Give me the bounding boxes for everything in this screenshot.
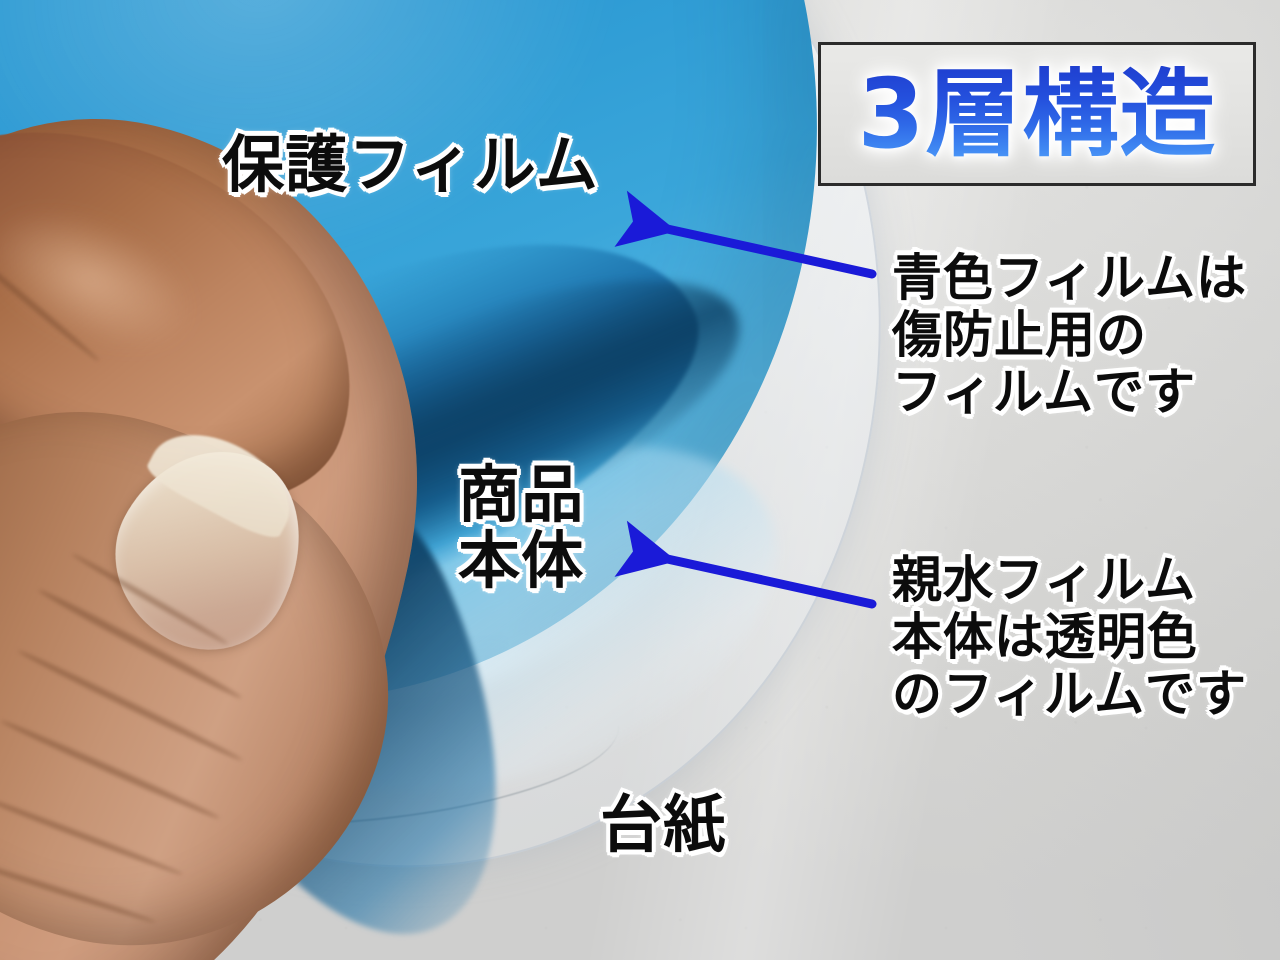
arrow-to-product-body — [640, 553, 872, 604]
label-backing-sheet: 台紙 — [600, 792, 726, 858]
title-badge: 3層構造 — [818, 42, 1256, 186]
product-photo-annotated: 保護フィルム 商品 本体 台紙 青色フィルムは 傷防止用の フィルムです 親水フ… — [0, 0, 1280, 960]
arrow-to-protective-film — [640, 223, 872, 274]
title-badge-text: 3層構造 — [858, 66, 1217, 162]
label-product-body: 商品 本体 — [458, 462, 584, 593]
note-clear-film: 親水フィルム 本体は透明色 のフィルムです — [892, 552, 1247, 723]
note-blue-film: 青色フィルムは 傷防止用の フィルムです — [892, 250, 1247, 421]
annotation-overlay: 保護フィルム 商品 本体 台紙 青色フィルムは 傷防止用の フィルムです 親水フ… — [0, 0, 1280, 960]
label-protective-film: 保護フィルム — [222, 132, 599, 198]
